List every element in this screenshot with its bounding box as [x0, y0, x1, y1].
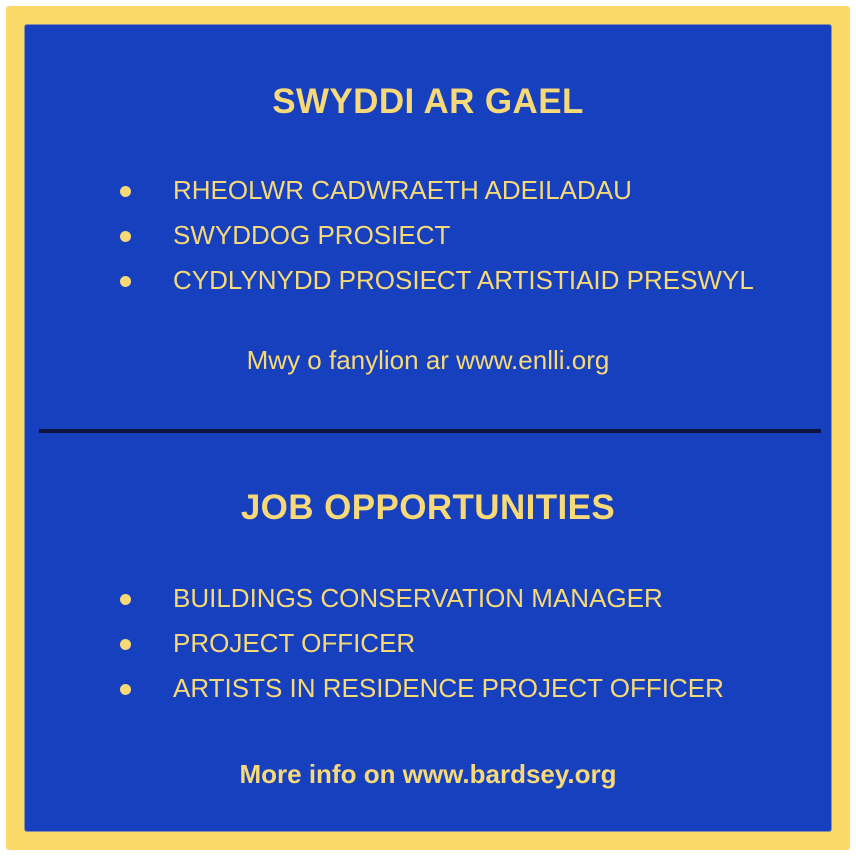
english-heading: JOB OPPORTUNITIES [25, 489, 831, 528]
welsh-job-label: CYDLYNYDD PROSIECT ARTISTIAID PRESWYL [173, 265, 754, 295]
english-job-label: PROJECT OFFICER [173, 628, 415, 658]
bullet-icon [120, 639, 131, 650]
bullet-icon [120, 594, 131, 605]
poster-root: SWYDDI AR GAEL RHEOLWR CADWRAETH ADEILAD… [0, 0, 856, 856]
list-item: RHEOLWR CADWRAETH ADEILADAU [25, 168, 831, 213]
english-job-label: BUILDINGS CONSERVATION MANAGER [173, 583, 663, 613]
english-info-line: More info on www.bardsey.org [25, 759, 831, 790]
welsh-job-label: SWYDDOG PROSIECT [173, 220, 450, 250]
english-section: JOB OPPORTUNITIES BUILDINGS CONSERVATION… [25, 429, 831, 790]
list-item: PROJECT OFFICER [25, 621, 831, 666]
list-item: SWYDDOG PROSIECT [25, 213, 831, 258]
welsh-job-list: RHEOLWR CADWRAETH ADEILADAU SWYDDOG PROS… [25, 168, 831, 303]
list-item: ARTISTS IN RESIDENCE PROJECT OFFICER [25, 666, 831, 711]
welsh-heading: SWYDDI AR GAEL [25, 83, 831, 122]
english-job-list: BUILDINGS CONSERVATION MANAGER PROJECT O… [25, 576, 831, 711]
welsh-job-label: RHEOLWR CADWRAETH ADEILADAU [173, 175, 632, 205]
bullet-icon [120, 231, 131, 242]
welsh-section: SWYDDI AR GAEL RHEOLWR CADWRAETH ADEILAD… [25, 25, 831, 376]
bullet-icon [120, 276, 131, 287]
list-item: BUILDINGS CONSERVATION MANAGER [25, 576, 831, 621]
english-job-label: ARTISTS IN RESIDENCE PROJECT OFFICER [173, 673, 724, 703]
bullet-icon [120, 684, 131, 695]
welsh-info-line: Mwy o fanylion ar www.enlli.org [25, 345, 831, 376]
bullet-icon [120, 186, 131, 197]
poster-yellow-frame: SWYDDI AR GAEL RHEOLWR CADWRAETH ADEILAD… [6, 6, 850, 850]
poster-blue-panel: SWYDDI AR GAEL RHEOLWR CADWRAETH ADEILAD… [24, 24, 832, 832]
list-item: CYDLYNYDD PROSIECT ARTISTIAID PRESWYL [25, 258, 831, 303]
